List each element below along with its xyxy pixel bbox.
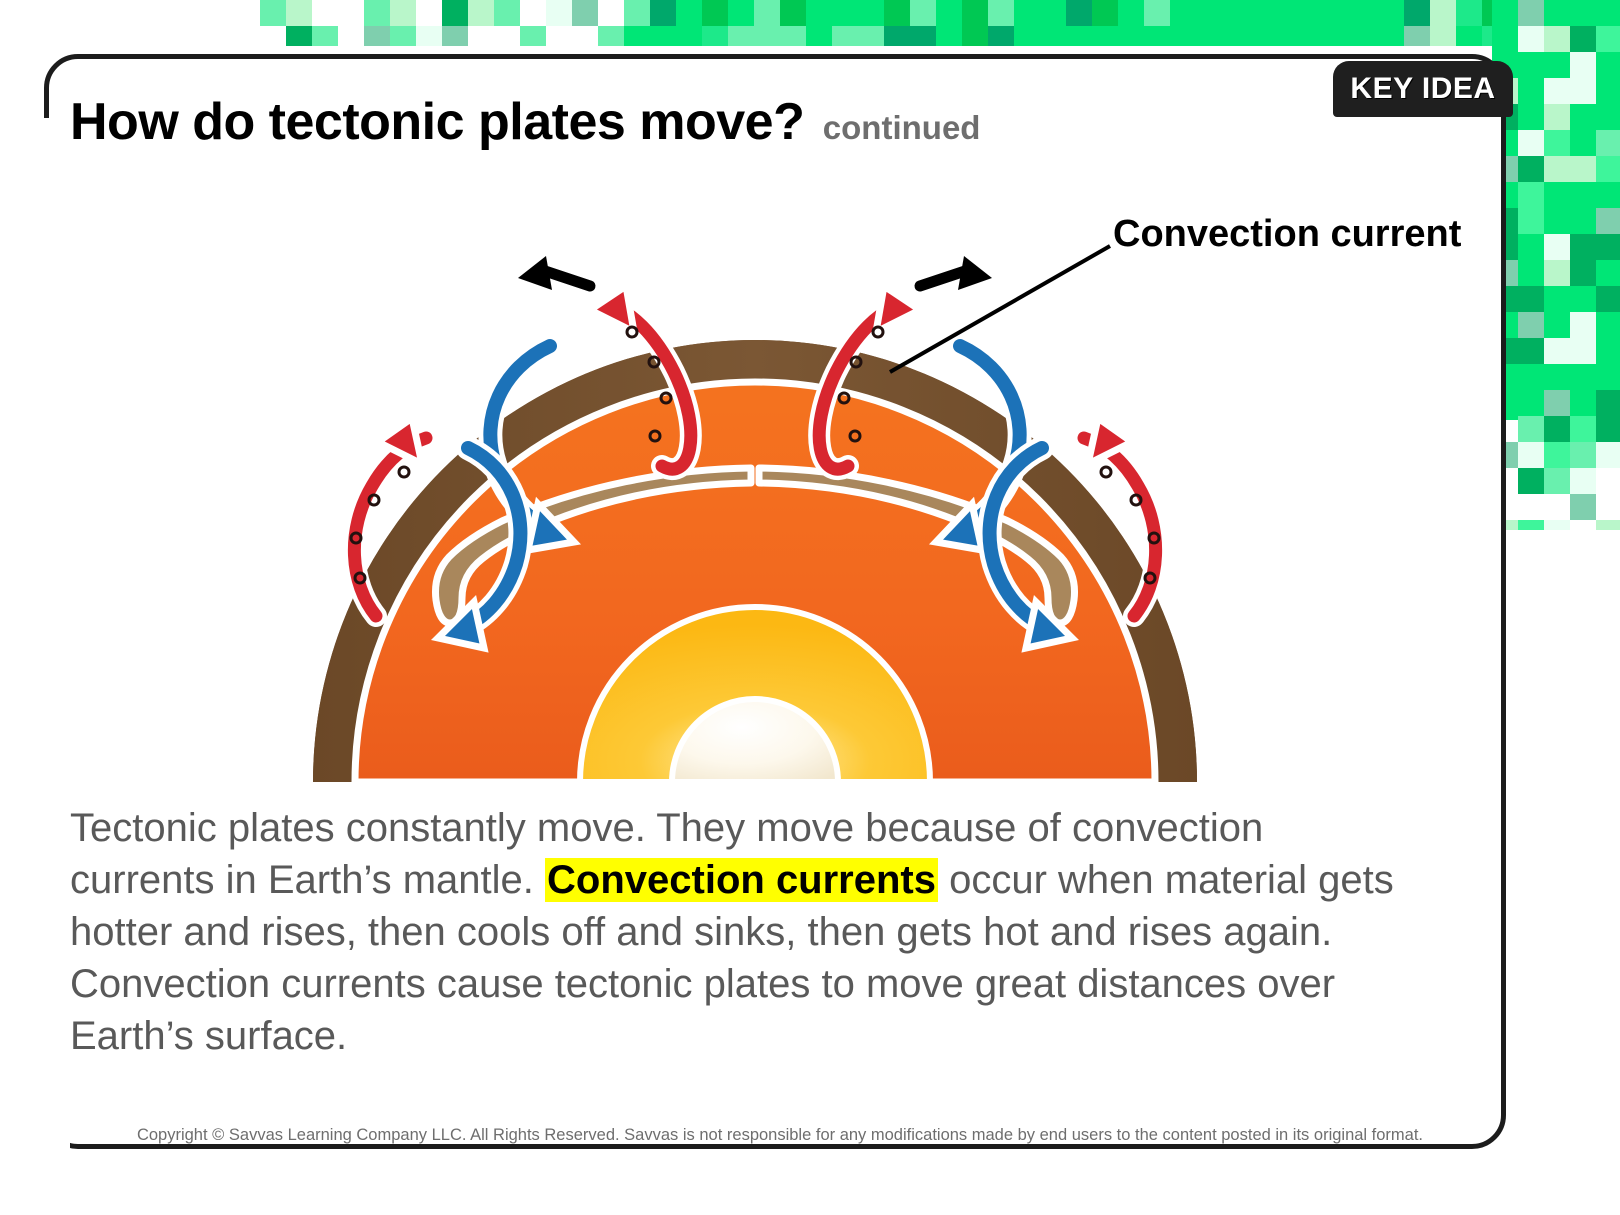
mosaic-pixel bbox=[598, 26, 624, 46]
mosaic-pixel bbox=[1544, 260, 1570, 286]
mosaic-pixel bbox=[1596, 520, 1620, 530]
mosaic-pixel bbox=[1518, 130, 1544, 156]
mosaic-pixel bbox=[1274, 0, 1300, 26]
mosaic-pixel bbox=[1518, 182, 1544, 208]
mosaic-pixel bbox=[1518, 416, 1544, 442]
mosaic-pixel bbox=[806, 26, 832, 46]
mosaic-pixel bbox=[1144, 26, 1170, 46]
mosaic-pixel bbox=[988, 0, 1014, 26]
mosaic-pixel bbox=[780, 0, 806, 26]
mosaic-pixel bbox=[1518, 520, 1544, 530]
mosaic-pixel bbox=[858, 0, 884, 26]
mosaic-pixel bbox=[1300, 0, 1326, 26]
mosaic-pixel bbox=[1570, 416, 1596, 442]
mosaic-pixel bbox=[1544, 390, 1570, 416]
mosaic-pixel bbox=[1118, 26, 1144, 46]
mosaic-pixel bbox=[988, 26, 1014, 46]
mosaic-pixel bbox=[1518, 338, 1544, 364]
mosaic-pixel bbox=[1144, 0, 1170, 26]
mosaic-pixel bbox=[1326, 26, 1352, 46]
mosaic-pixel bbox=[1118, 0, 1144, 26]
mosaic-pixel bbox=[728, 0, 754, 26]
mosaic-pixel bbox=[1014, 0, 1040, 26]
mosaic-pixel bbox=[1274, 26, 1300, 46]
mosaic-pixel bbox=[494, 0, 520, 26]
mosaic-pixel bbox=[1170, 0, 1196, 26]
mosaic-pixel bbox=[1544, 520, 1570, 530]
mosaic-pixel bbox=[702, 0, 728, 26]
mosaic-pixel bbox=[1092, 0, 1118, 26]
mosaic-pixel bbox=[1404, 26, 1430, 46]
mosaic-pixel bbox=[650, 0, 676, 26]
mosaic-pixel bbox=[1544, 468, 1570, 494]
mosaic-pixel bbox=[1570, 260, 1596, 286]
mosaic-pixel bbox=[780, 26, 806, 46]
mosaic-pixel bbox=[1040, 0, 1066, 26]
mosaic-pixel bbox=[1570, 338, 1596, 364]
label-convection-current: Convection current bbox=[1113, 213, 1461, 256]
mosaic-pixel bbox=[312, 26, 338, 46]
mosaic-pixel bbox=[1570, 156, 1596, 182]
mosaic-pixel bbox=[1222, 0, 1248, 26]
mosaic-pixel bbox=[442, 0, 468, 26]
mosaic-pixel bbox=[624, 0, 650, 26]
key-idea-label: KEY IDEA bbox=[1350, 72, 1495, 106]
mosaic-pixel bbox=[1544, 130, 1570, 156]
mosaic-pixel bbox=[390, 26, 416, 46]
mosaic-pixel bbox=[1066, 0, 1092, 26]
mosaic-pixel bbox=[832, 0, 858, 26]
mosaic-pixel bbox=[1248, 0, 1274, 26]
mosaic-pixel bbox=[1456, 0, 1482, 26]
mosaic-pixel bbox=[1544, 156, 1570, 182]
plate-motion-arrow-left bbox=[518, 256, 590, 290]
mosaic-pixel bbox=[364, 0, 390, 26]
mosaic-pixel bbox=[1352, 26, 1378, 46]
copyright-footer: Copyright © Savvas Learning Company LLC.… bbox=[0, 1126, 1560, 1145]
mosaic-pixel bbox=[1430, 0, 1456, 26]
mosaic-pixel bbox=[1570, 494, 1596, 520]
mosaic-pixel bbox=[1544, 104, 1570, 130]
mosaic-pixel bbox=[1570, 468, 1596, 494]
mosaic-pixel bbox=[1518, 286, 1544, 312]
mosaic-pixel bbox=[806, 0, 832, 26]
mosaic-pixel bbox=[754, 26, 780, 46]
mosaic-pixel bbox=[910, 26, 936, 46]
mosaic-pixel bbox=[1518, 208, 1544, 234]
mosaic-pixel bbox=[1378, 26, 1404, 46]
plate-motion-arrow-right bbox=[920, 256, 992, 290]
green-pixel-mosaic-top bbox=[0, 0, 1620, 46]
mosaic-pixel bbox=[1596, 286, 1620, 312]
body-highlight-term: Convection currents bbox=[545, 858, 938, 902]
mosaic-pixel bbox=[1456, 26, 1482, 46]
mosaic-pixel bbox=[1040, 26, 1066, 46]
mosaic-pixel bbox=[1170, 26, 1196, 46]
mosaic-pixel bbox=[1570, 312, 1596, 338]
mosaic-pixel bbox=[1518, 468, 1544, 494]
mosaic-pixel bbox=[1326, 0, 1352, 26]
mosaic-pixel bbox=[1196, 26, 1222, 46]
mosaic-pixel bbox=[1596, 156, 1620, 182]
mosaic-pixel bbox=[1430, 26, 1456, 46]
mosaic-pixel bbox=[1222, 26, 1248, 46]
mosaic-pixel bbox=[702, 26, 728, 46]
mosaic-pixel bbox=[1544, 442, 1570, 468]
mosaic-pixel bbox=[1352, 0, 1378, 26]
mosaic-pixel bbox=[546, 0, 572, 26]
mosaic-pixel bbox=[1596, 130, 1620, 156]
mosaic-pixel bbox=[260, 0, 286, 26]
mosaic-pixel bbox=[442, 26, 468, 46]
mosaic-pixel bbox=[1518, 0, 1544, 26]
mosaic-pixel bbox=[936, 26, 962, 46]
mosaic-pixel bbox=[1570, 78, 1596, 104]
mosaic-pixel bbox=[676, 0, 702, 26]
mosaic-pixel bbox=[936, 0, 962, 26]
page-title: How do tectonic plates move? bbox=[70, 92, 804, 152]
slide-canvas: KEY IDEA How do tectonic plates move? co… bbox=[0, 0, 1620, 1215]
mosaic-pixel bbox=[1570, 26, 1596, 52]
mosaic-pixel bbox=[962, 26, 988, 46]
mosaic-pixel bbox=[1596, 442, 1620, 468]
card-left-edge-mask bbox=[0, 118, 70, 1215]
mosaic-pixel bbox=[1518, 312, 1544, 338]
mosaic-pixel bbox=[286, 26, 312, 46]
body-paragraph: Tectonic plates constantly move. They mo… bbox=[70, 802, 1400, 1062]
mosaic-pixel bbox=[858, 26, 884, 46]
header: How do tectonic plates move? continued bbox=[70, 92, 980, 152]
mosaic-pixel bbox=[962, 0, 988, 26]
mosaic-pixel bbox=[1014, 26, 1040, 46]
mosaic-pixel bbox=[1596, 390, 1620, 416]
mosaic-pixel bbox=[1570, 234, 1596, 260]
mosaic-pixel bbox=[1066, 26, 1092, 46]
mosaic-pixel bbox=[416, 26, 442, 46]
mosaic-pixel bbox=[520, 26, 546, 46]
mosaic-pixel bbox=[832, 26, 858, 46]
mosaic-pixel bbox=[754, 0, 780, 26]
card-bottom-edge-mask bbox=[0, 1153, 1340, 1215]
key-idea-badge: KEY IDEA bbox=[1333, 61, 1513, 117]
page-title-continued: continued bbox=[823, 109, 981, 147]
mosaic-pixel bbox=[650, 26, 676, 46]
mosaic-pixel bbox=[1404, 0, 1430, 26]
mosaic-pixel bbox=[1378, 0, 1404, 26]
mosaic-pixel bbox=[1518, 156, 1544, 182]
mosaic-pixel bbox=[572, 0, 598, 26]
mosaic-pixel bbox=[1544, 26, 1570, 52]
mosaic-pixel bbox=[1596, 26, 1620, 52]
mosaic-pixel bbox=[1544, 416, 1570, 442]
mosaic-pixel bbox=[286, 0, 312, 26]
mosaic-pixel bbox=[468, 0, 494, 26]
mosaic-pixel bbox=[1544, 338, 1570, 364]
mosaic-pixel bbox=[1196, 0, 1222, 26]
mosaic-pixel bbox=[1544, 78, 1570, 104]
mosaic-pixel bbox=[884, 0, 910, 26]
mosaic-pixel bbox=[676, 26, 702, 46]
mosaic-pixel bbox=[1544, 234, 1570, 260]
mosaic-pixel bbox=[1570, 442, 1596, 468]
mosaic-pixel bbox=[1570, 52, 1596, 78]
mosaic-pixel bbox=[1248, 26, 1274, 46]
mosaic-pixel bbox=[884, 26, 910, 46]
mosaic-pixel bbox=[364, 26, 390, 46]
mosaic-pixel bbox=[1596, 234, 1620, 260]
mosaic-pixel bbox=[1596, 208, 1620, 234]
mosaic-pixel bbox=[1300, 26, 1326, 46]
mosaic-pixel bbox=[1518, 26, 1544, 52]
mosaic-pixel bbox=[1518, 442, 1544, 468]
mosaic-pixel bbox=[910, 0, 936, 26]
mosaic-pixel bbox=[1596, 416, 1620, 442]
mosaic-pixel bbox=[390, 0, 416, 26]
mosaic-pixel bbox=[1092, 26, 1118, 46]
earth-cross-section-diagram bbox=[150, 186, 1360, 782]
mosaic-pixel bbox=[728, 26, 754, 46]
mosaic-pixel bbox=[624, 26, 650, 46]
